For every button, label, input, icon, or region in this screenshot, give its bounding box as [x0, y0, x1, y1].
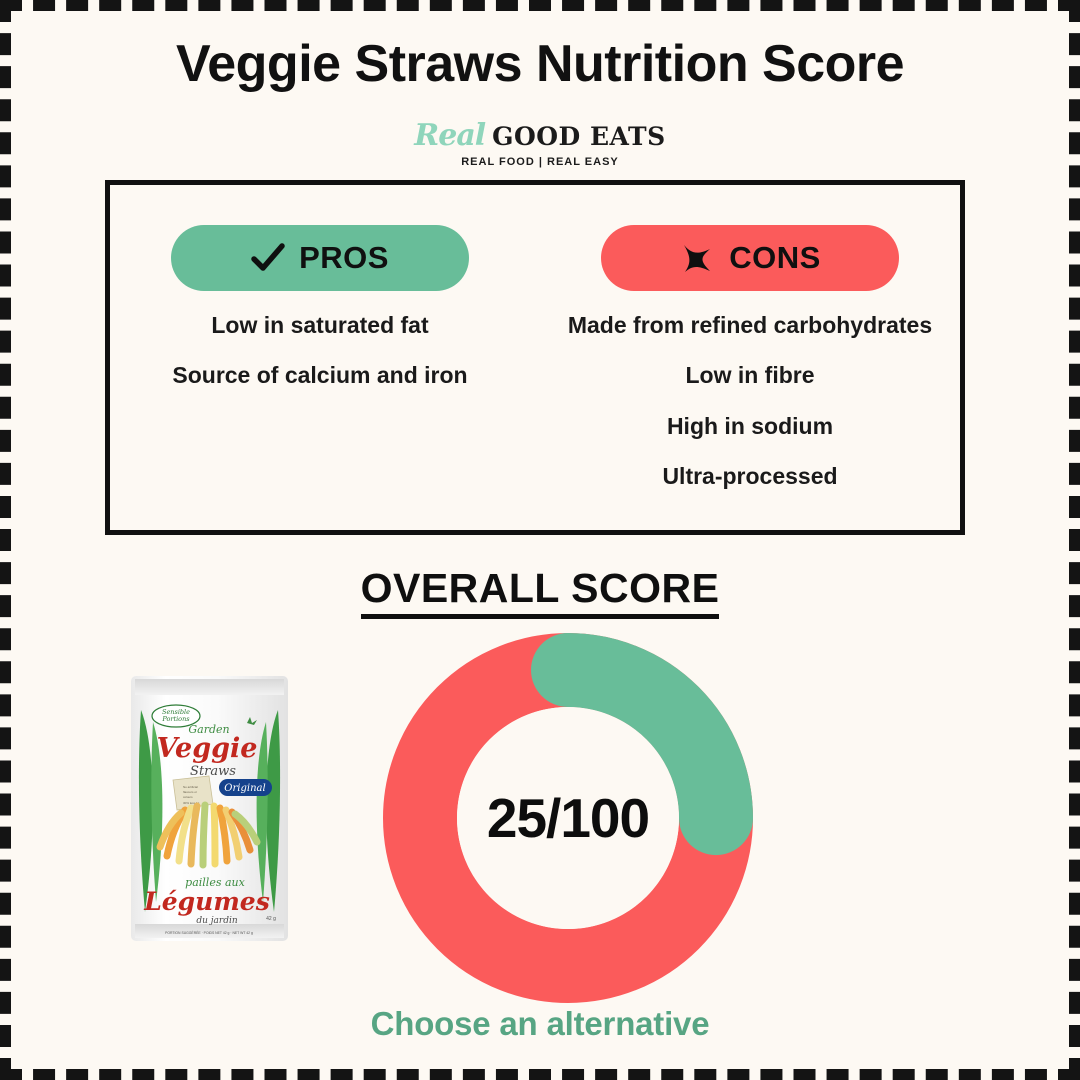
svg-text:colours: colours [183, 795, 193, 799]
donut-center-score: 25/100 [383, 633, 753, 1003]
cons-list-item: Low in fibre [535, 363, 965, 388]
cons-list-item: Ultra-processed [535, 464, 965, 489]
svg-text:No artificial: No artificial [183, 785, 198, 789]
cons-pill-label: CONS [729, 240, 821, 276]
cons-list: Made from refined carbohydrates Low in f… [535, 313, 965, 514]
recommendation-text: Choose an alternative [0, 1005, 1080, 1043]
svg-text:Straws: Straws [190, 764, 236, 779]
cons-pill: CONS [601, 225, 899, 291]
pros-cons-columns: PROS Low in saturated fat Source of calc… [105, 180, 965, 535]
overall-score-label: OVERALL SCORE [361, 565, 720, 619]
pros-list: Low in saturated fat Source of calcium a… [105, 313, 535, 414]
cons-list-item: Made from refined carbohydrates [535, 313, 965, 338]
product-package-image: Sensible Portions Garden Veggie Straws N… [131, 676, 288, 941]
cons-column: CONS Made from refined carbohydrates Low… [535, 180, 965, 535]
x-icon [679, 242, 715, 274]
logo-bold-word: GOOD EATS [492, 122, 666, 151]
svg-text:Légumes: Légumes [143, 887, 270, 916]
pros-column: PROS Low in saturated fat Source of calc… [105, 180, 535, 535]
infographic-page: Veggie Straws Nutrition Score Real GOOD … [0, 0, 1080, 1080]
svg-text:Portions: Portions [161, 715, 190, 723]
page-title: Veggie Straws Nutrition Score [0, 34, 1080, 94]
cons-list-item: High in sodium [535, 414, 965, 439]
logo-wordmark: Real GOOD EATS [414, 118, 665, 153]
pros-pill-label: PROS [299, 240, 389, 276]
overall-score-heading: OVERALL SCORE [0, 565, 1080, 619]
svg-text:42 g: 42 g [266, 916, 276, 922]
svg-text:Veggie: Veggie [157, 733, 258, 764]
logo-script-word: Real [414, 118, 485, 153]
brand-logo: Real GOOD EATS REAL FOOD | REAL EASY [0, 118, 1080, 168]
pros-list-item: Source of calcium and iron [105, 363, 535, 388]
svg-text:du jardin: du jardin [196, 916, 238, 926]
check-icon [251, 243, 285, 273]
svg-text:flavours or: flavours or [183, 790, 197, 794]
overall-score-donut-chart: 25/100 [383, 633, 753, 1003]
svg-text:PORTION SUGGÉRÉE · POIDS NET: PORTION SUGGÉRÉE · POIDS NET 42 g · NET … [165, 930, 253, 935]
logo-tagline: REAL FOOD | REAL EASY [0, 156, 1080, 168]
pros-pill: PROS [171, 225, 469, 291]
pros-list-item: Low in saturated fat [105, 313, 535, 338]
svg-text:Original: Original [224, 783, 265, 794]
